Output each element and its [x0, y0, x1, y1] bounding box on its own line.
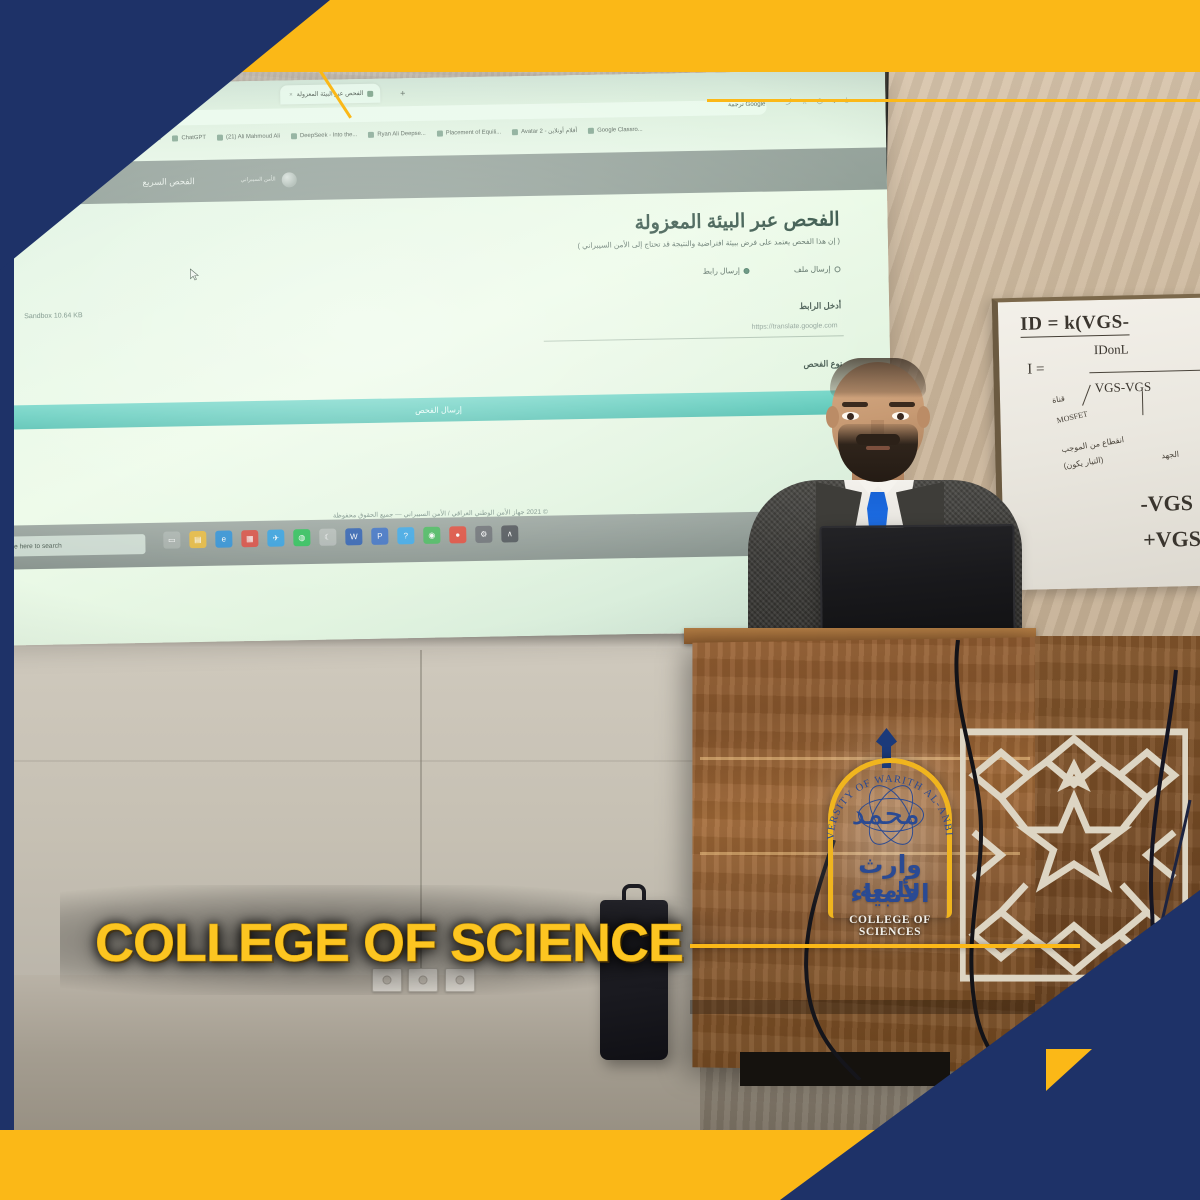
presenter-eye	[892, 412, 909, 420]
presenter-eyebrow	[842, 402, 868, 407]
whiteboard-note: انقطاع من الموجب	[1061, 435, 1125, 454]
top-right-gold-rule	[707, 99, 1200, 102]
event-photograph: الفحص عبر البيئة المعزولة × Ali Mahmoud …	[0, 0, 1200, 1200]
whiteboard-note: (التيار يكون)	[1063, 455, 1104, 470]
mouse-cursor-icon	[189, 268, 199, 281]
bookmark-label: Avatar 2 - أفلام أونلاين	[521, 128, 577, 135]
bookmark-label: DeepSeek - Into the...	[300, 132, 357, 139]
poster-canvas: الفحص عبر البيئة المعزولة × Ali Mahmoud …	[0, 0, 1200, 1200]
scan-option-link[interactable]: إرسال رابط	[703, 266, 750, 276]
whiteboard-equation-6: +VGS	[1143, 526, 1200, 553]
wall-seam	[0, 760, 700, 762]
whiteboard-equation-1: ID = k(VGS-	[1020, 311, 1130, 337]
site-brand: الأمن السيبراني	[241, 172, 297, 188]
file-explorer-icon[interactable]: ▤	[189, 531, 206, 548]
new-tab-button[interactable]: +	[400, 88, 405, 98]
store-icon[interactable]: ▦	[241, 530, 258, 547]
bookmark-item[interactable]: ChatGPT	[172, 135, 206, 142]
submit-scan-label: إرسال الفحص	[415, 405, 462, 415]
link-input-placeholder: https://translate.google.com	[751, 322, 837, 331]
help-icon[interactable]: ?	[397, 527, 414, 544]
radio-icon	[834, 266, 840, 272]
whiteboard-equation-2: IDonL	[1094, 341, 1129, 358]
radio-icon	[744, 267, 750, 273]
task-view-icon[interactable]: ▭	[163, 531, 180, 548]
presenter-eye	[842, 412, 859, 420]
university-logo: UNIVERSITY OF WARITH AL-ANBIYAA محمد وار…	[812, 732, 968, 948]
recorder-icon[interactable]: ●	[449, 526, 466, 543]
bookmark-item[interactable]: Placement of Equili...	[437, 129, 501, 136]
banner-title-block: COLLEGE OF SCIENCE	[95, 912, 683, 974]
scan-mode-options: إرسال ملف إرسال رابط	[703, 264, 841, 276]
bookmark-label: ChatGPT	[181, 135, 206, 141]
bookmark-item[interactable]: (21) Ali Mahmoud Ali	[217, 134, 280, 141]
logo-arabic-line2: جامعة	[826, 878, 954, 902]
whiteboard-equation-5: -VGS	[1140, 490, 1193, 517]
notepad-icon[interactable]: ∧	[501, 525, 518, 542]
site-brand-label: الأمن السيبراني	[241, 177, 276, 184]
whiteboard-note: MOSFET	[1056, 409, 1089, 425]
settings-icon[interactable]: ⚙	[475, 526, 492, 543]
submit-scan-button[interactable]: إرسال الفحص	[0, 389, 891, 430]
page-heading: الفحص عبر البيئة المعزولة	[634, 208, 839, 235]
taskbar-search-input[interactable]: Type here to search	[0, 534, 146, 557]
edge-icon[interactable]: e	[215, 530, 232, 547]
presenter-ear	[917, 406, 930, 428]
taskbar-app-icons: ▭ ▤ e ▦ ✈ ◍ ☾ W P ? ◉ ● ⚙ ∧	[163, 525, 518, 549]
sandbox-size-note: Sandbox 10.64 KB	[24, 312, 83, 320]
moon-icon[interactable]: ☾	[319, 529, 336, 546]
whiteboard-note: قناة	[1051, 394, 1065, 405]
scan-option-label: إرسال رابط	[703, 266, 740, 276]
scan-option-file[interactable]: إرسال ملف	[794, 264, 841, 274]
whiteboard-equation-3: I =	[1027, 361, 1045, 378]
bookmark-label: Ryan Ali Deepse...	[377, 131, 426, 138]
page-subheading: ( إن هذا الفحص يعتمد على فرض ببيئة افترا…	[578, 236, 841, 250]
chrome-icon[interactable]: ◉	[423, 527, 440, 544]
laptop-screen	[819, 524, 1015, 636]
bookmark-item[interactable]: Google Classro...	[588, 127, 643, 134]
logo-english-line: COLLEGE OF SCIENCES	[818, 914, 962, 938]
bookmark-label: Google Classro...	[597, 127, 643, 134]
presenter-ear	[826, 406, 839, 428]
scan-option-label: إرسال ملف	[794, 264, 831, 274]
site-logo-icon	[281, 172, 296, 187]
bookmark-item[interactable]: Avatar 2 - أفلام أونلاين	[512, 128, 577, 135]
word-icon[interactable]: W	[345, 528, 362, 545]
bookmark-label: Placement of Equili...	[446, 129, 501, 136]
telegram-icon[interactable]: ✈	[267, 530, 284, 547]
logo-calligraphy: محمد	[862, 788, 920, 842]
bookmark-item[interactable]: Ryan Ali Deepse...	[368, 131, 426, 138]
presenter-beard	[838, 424, 918, 482]
link-input[interactable]: https://translate.google.com	[543, 320, 843, 341]
whiteboard: ID = k(VGS- IDonL I = VGS-VGS -VGS +VGS …	[992, 294, 1200, 591]
presenter-lip	[866, 446, 890, 450]
whiteboard-note: الجهد	[1161, 450, 1179, 461]
bookmark-item[interactable]: DeepSeek - Into the...	[291, 132, 357, 139]
tab-title: الفحص عبر البيئة المعزولة	[297, 90, 364, 98]
banner-title: COLLEGE OF SCIENCE	[95, 912, 683, 974]
powerpoint-icon[interactable]: P	[371, 528, 388, 545]
tab-close-icon[interactable]: ×	[289, 92, 293, 98]
presenter-mustache	[856, 434, 900, 445]
whatsapp-icon[interactable]: ◍	[293, 529, 310, 546]
bookmark-label: (21) Ali Mahmoud Ali	[226, 134, 280, 141]
tab-favicon	[367, 90, 373, 96]
nav-item-quick-scan[interactable]: الفحص السريع	[142, 176, 194, 188]
link-field-label: أدخل الرابط	[799, 300, 841, 311]
presenter-hair	[830, 358, 926, 398]
presenter-eyebrow	[889, 402, 915, 407]
